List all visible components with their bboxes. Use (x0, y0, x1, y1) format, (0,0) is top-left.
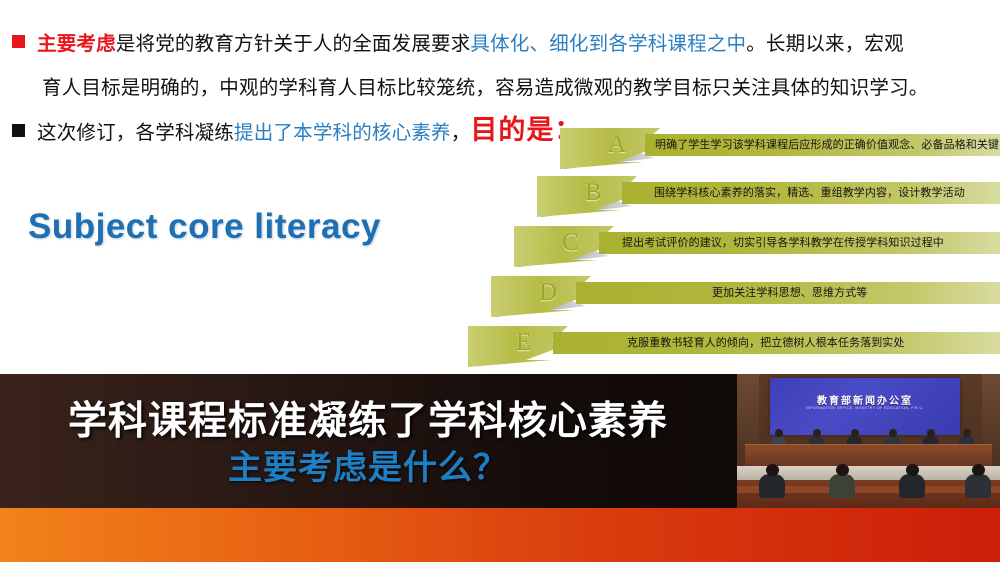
photo-backdrop-title-cn: 教育部新闻办公室 (770, 392, 960, 407)
banner-title-line-1: 学科课程标准凝练了学科核心素养 (0, 390, 736, 446)
photo-stage-backdrop: 教育部新闻办公室 INFORMATION OFFICE, MINISTRY OF… (770, 378, 960, 435)
arrow-text-a: 明确了学生学习该学科课程后应形成的正确价值观念、必备品格和关键能力 (655, 134, 1000, 156)
arrow-text-b: 围绕学科核心素养的落实，精选、重组教学内容，设计教学活动 (654, 182, 965, 204)
panelist-head (889, 429, 897, 437)
slide-canvas: 主要考虑是将党的教育方针关于人的全面发展要求具体化、细化到各学科课程之中。长期以… (0, 0, 1000, 562)
audience-head (766, 464, 779, 476)
panelist-head (813, 429, 821, 437)
panelist-head (775, 429, 783, 437)
panelist-head (927, 429, 935, 437)
orange-footer-bar (0, 508, 1000, 562)
arrow-rows-group: A 明确了学生学习该学科课程后应形成的正确价值观念、必备品格和关键能力 (0, 0, 1000, 374)
photo-panel-table (745, 444, 992, 467)
audience-head (972, 464, 985, 476)
panelist-head (851, 429, 859, 437)
arrow-text-d: 更加关注学科思想、思维方式等 (712, 282, 867, 304)
photo-backdrop-title-en: INFORMATION OFFICE, MINISTRY OF EDUCATIO… (770, 406, 960, 410)
arrow-bar-e: 克服重教书轻育人的倾向，把立德树人根本任务落到实处 (553, 332, 1000, 354)
audience-member (759, 474, 785, 498)
arrow-letter-b: B (585, 179, 602, 207)
banner-title-line-2: 主要考虑是什么？ (0, 440, 736, 489)
arrow-text-e: 克服重教书轻育人的倾向，把立德树人根本任务落到实处 (627, 332, 905, 354)
audience-head (836, 464, 849, 476)
arrow-letter-e: E (516, 329, 531, 357)
arrow-bar-c: 提出考试评价的建议，切实引导各学科教学在传授学科知识过程中 (599, 232, 1000, 254)
audience-member (965, 474, 991, 498)
arrow-letter-c: C (562, 229, 579, 257)
arrow-bar-d: 更加关注学科思想、思维方式等 (576, 282, 1000, 304)
audience-member (899, 474, 925, 498)
arrow-text-c: 提出考试评价的建议，切实引导各学科教学在传授学科知识过程中 (622, 232, 944, 254)
press-conference-photo: 教育部新闻办公室 INFORMATION OFFICE, MINISTRY OF… (737, 374, 1000, 508)
arrow-letter-d: D (539, 279, 557, 307)
audience-head (906, 464, 919, 476)
audience-member (829, 474, 855, 498)
arrow-letter-a: A (608, 131, 626, 159)
arrow-bar-b: 围绕学科核心素养的落实，精选、重组教学内容，设计教学活动 (622, 182, 1000, 204)
panelist-head (963, 429, 971, 437)
arrow-bar-a: 明确了学生学习该学科课程后应形成的正确价值观念、必备品格和关键能力 (645, 134, 1000, 156)
